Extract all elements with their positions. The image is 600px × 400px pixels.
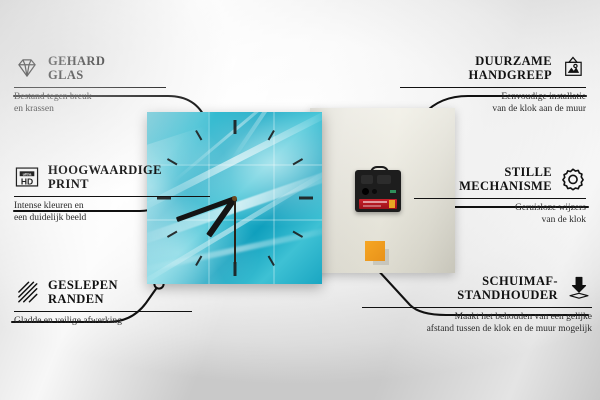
callout-divider [400,87,586,88]
hanging-picture-frame-icon [560,55,586,81]
callout-header: SCHUIMAF- STANDHOUDER [354,274,592,302]
callout-description-line2: een duidelijk beeld [14,213,219,225]
battery [359,199,397,209]
mechanism-dial [372,189,377,194]
callout-header: STILLE MECHANISME [406,165,586,193]
callout-duurzame-handgreep: DUURZAME HANDGREEP Eenvoudige installati… [390,54,586,115]
callout-title: HOOGWAARDIGE PRINT [48,163,162,191]
callout-geslepen-randen: GESLEPEN RANDEN Gladde en veilige afwerk… [14,278,204,328]
clock-tick [233,262,236,276]
callout-description-line1: Bestand tegen breuk [14,92,194,104]
callout-description-line2: en krassen [14,104,194,116]
callout-title: SCHUIMAF- STANDHOUDER [457,274,558,302]
callout-description-line1: Eenvoudige installatie [390,92,586,104]
callout-divider [414,198,586,199]
clock-tick [299,197,313,200]
callout-header: GEHARD GLAS [14,54,194,82]
clock-tick [233,120,236,134]
diagonal-lines-icon [14,279,40,305]
callout-title: STILLE MECHANISME [459,165,552,193]
infographic-canvas: GEHARD GLAS Bestand tegen breuk en krass… [0,0,600,400]
battery-positive-terminal [389,200,395,208]
mechanism-body [355,170,401,212]
callout-title: GEHARD GLAS [48,54,105,82]
battery-stripe [363,201,387,203]
callout-schuimaf-standhouder: SCHUIMAF- STANDHOUDER Maakt het behouden… [354,274,592,335]
clock-center-cap [232,196,237,201]
callout-header: DUURZAME HANDGREEP [390,54,586,82]
diamond-icon [14,55,40,81]
callout-description-line1: Geruisloze wijzers [406,203,586,215]
battery-stripe [363,205,381,207]
callout-description-line1: Intense kleuren en [14,201,219,213]
down-arrow-pad-icon [566,275,592,301]
callout-gehard-glas: GEHARD GLAS Bestand tegen breuk en krass… [14,54,194,115]
callout-title: DUURZAME HANDGREEP [469,54,552,82]
foam-spacer-pad [365,241,385,261]
callout-description-line1: Gladde en veilige afwerking [14,316,204,328]
callout-divider [14,311,192,312]
ultra-hd-icon: ultra HD [14,164,40,190]
callout-hoogwaardige-print: ultra HD HOOGWAARDIGE PRINT Intense kleu… [14,163,219,224]
callout-description-line1: Maakt het behouden van een gelijke [354,312,592,324]
clock-mechanism [355,166,401,212]
callout-description-line2: van de klok aan de muur [390,104,586,116]
callout-divider [362,307,592,308]
mechanism-label [390,190,396,193]
svg-text:HD: HD [21,176,33,186]
callout-stille-mechanisme: STILLE MECHANISME Geruisloze wijzers van… [406,165,586,226]
mechanism-dial [362,188,369,195]
clock-second-hand [234,198,236,264]
callout-header: ultra HD HOOGWAARDIGE PRINT [14,163,219,191]
callout-divider [14,196,210,197]
callout-divider [14,87,166,88]
callout-header: GESLEPEN RANDEN [14,278,204,306]
gear-icon [560,166,586,192]
callout-title: GESLEPEN RANDEN [48,278,118,306]
glass-reflection-line [273,112,275,284]
callout-description-line2: afstand tussen de klok en de muur mogeli… [354,324,592,336]
callout-description-line2: van de klok [406,215,586,227]
